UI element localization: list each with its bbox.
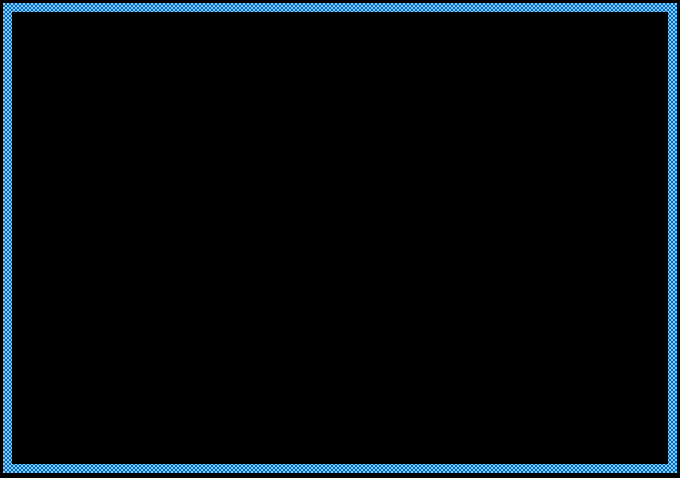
framed-photo-canvas: 医院感染管理 — [0, 0, 680, 478]
inner-gold-frame — [33, 31, 645, 448]
